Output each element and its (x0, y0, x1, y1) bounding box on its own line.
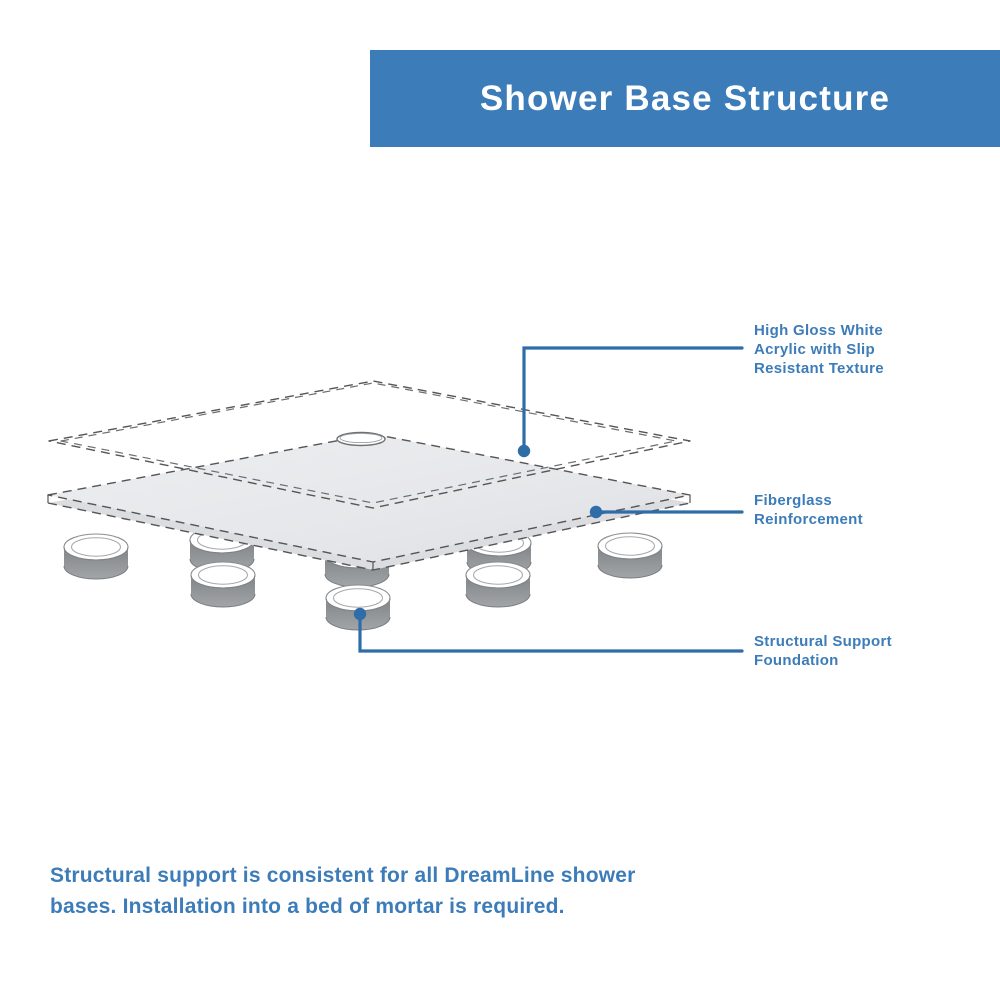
support-ring (191, 562, 255, 607)
callout-label-support: Structural Support Foundation (754, 632, 959, 670)
callout-label-acrylic: High Gloss White Acrylic with Slip Resis… (754, 321, 959, 378)
leader-dot-acrylic (518, 445, 530, 457)
leader-line-support (354, 608, 742, 651)
support-ring (466, 562, 530, 607)
support-ring (598, 533, 662, 578)
exploded-shower-base-diagram: High Gloss White Acrylic with Slip Resis… (0, 0, 1000, 1000)
drain-opening (337, 433, 385, 446)
support-ring (64, 534, 128, 579)
callout-label-fiberglass: Fiberglass Reinforcement (754, 491, 959, 529)
support-ring (326, 585, 390, 630)
leader-dot-fiberglass (590, 506, 602, 518)
leader-dot-support (354, 608, 366, 620)
footer-caption: Structural support is consistent for all… (50, 860, 670, 922)
leader-line-acrylic (518, 348, 742, 457)
